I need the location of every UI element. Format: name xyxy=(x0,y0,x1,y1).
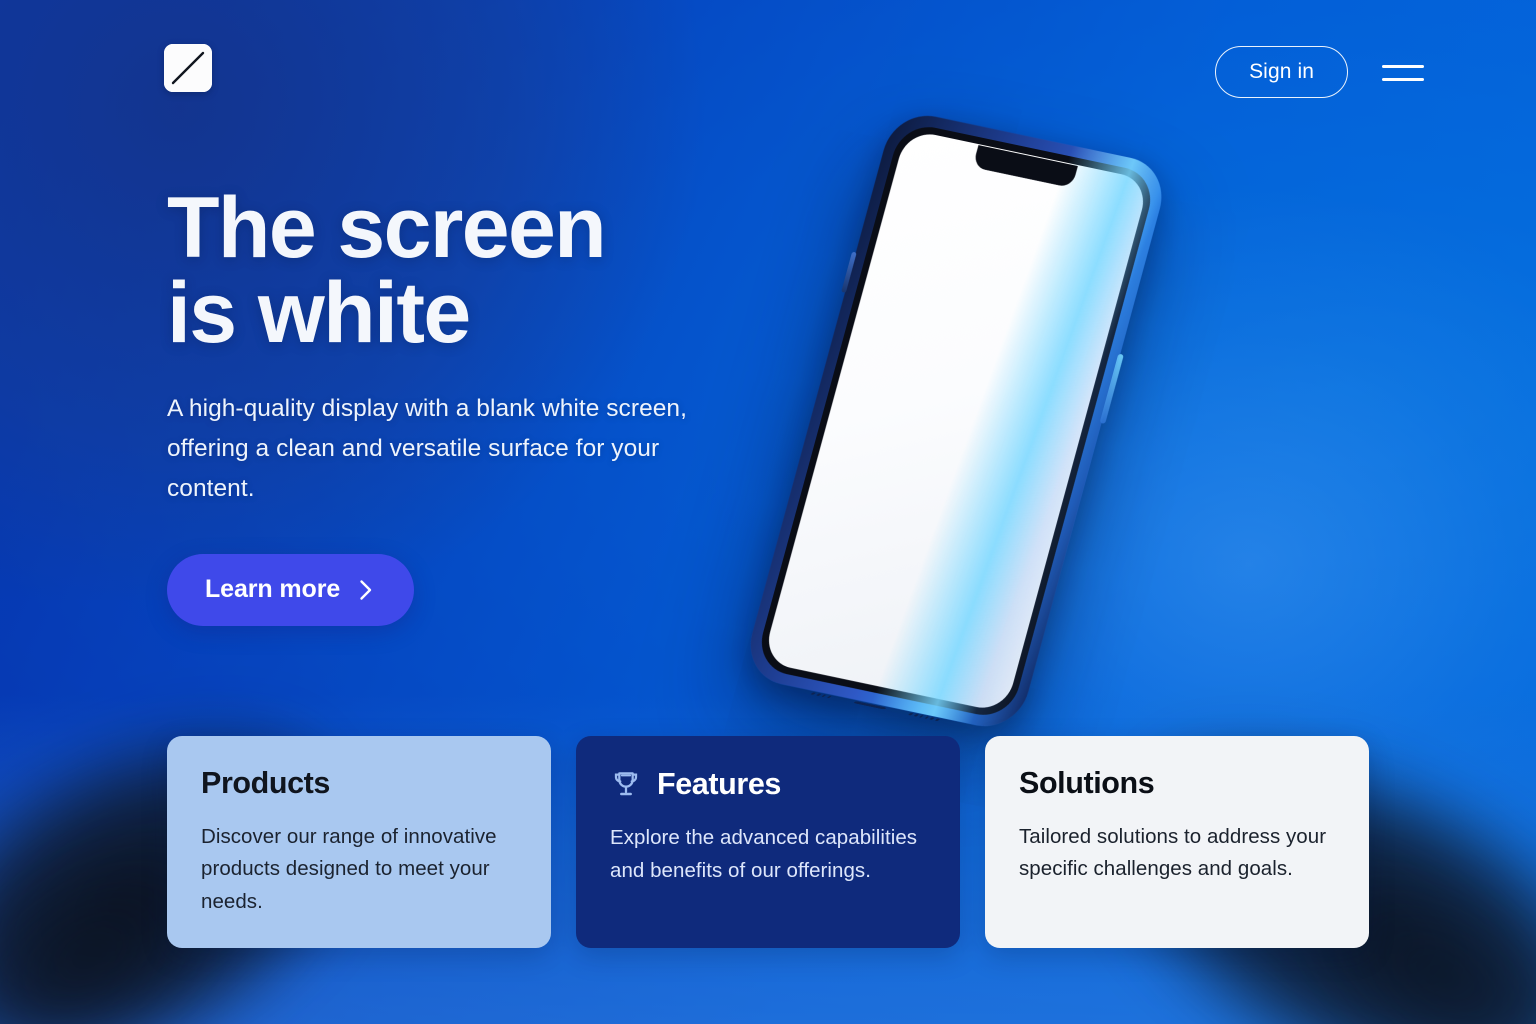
hero-section: The screen is white A high-quality displ… xyxy=(167,186,787,626)
hamburger-menu-icon[interactable] xyxy=(1382,60,1424,84)
sign-in-button[interactable]: Sign in xyxy=(1215,46,1348,98)
learn-more-button[interactable]: Learn more xyxy=(167,554,414,626)
diagonal-slash-logo-icon xyxy=(164,44,212,92)
site-header: Sign in xyxy=(0,0,1536,140)
card-solutions-title-row: Solutions xyxy=(1019,768,1337,799)
headline-line-1: The screen xyxy=(167,180,605,276)
card-products-body: Discover our range of innovative product… xyxy=(201,821,519,919)
card-features-title-row: Features xyxy=(610,768,928,800)
card-solutions[interactable]: Solutions Tailored solutions to address … xyxy=(985,736,1369,948)
hamburger-line-2 xyxy=(1382,78,1424,81)
learn-more-label: Learn more xyxy=(205,575,340,604)
card-products-title-row: Products xyxy=(201,768,519,799)
card-features-body: Explore the advanced capabilities and be… xyxy=(610,822,928,888)
trophy-icon xyxy=(610,768,642,800)
card-features[interactable]: Features Explore the advanced capabiliti… xyxy=(576,736,960,948)
brand-logo[interactable] xyxy=(164,44,212,92)
card-products-title: Products xyxy=(201,768,330,799)
header-nav: Sign in xyxy=(1215,44,1424,98)
hero-subtext: A high-quality display with a blank whit… xyxy=(167,389,742,509)
card-features-title: Features xyxy=(657,769,781,800)
chevron-right-icon xyxy=(359,579,373,601)
hamburger-line-1 xyxy=(1382,65,1424,68)
page-title: The screen is white xyxy=(167,186,787,356)
feature-cards: Products Discover our range of innovativ… xyxy=(167,736,1369,948)
card-solutions-body: Tailored solutions to address your speci… xyxy=(1019,821,1337,887)
phone-mockup xyxy=(741,108,1171,734)
card-solutions-title: Solutions xyxy=(1019,768,1154,799)
card-products[interactable]: Products Discover our range of innovativ… xyxy=(167,736,551,948)
headline-line-2: is white xyxy=(167,271,787,356)
